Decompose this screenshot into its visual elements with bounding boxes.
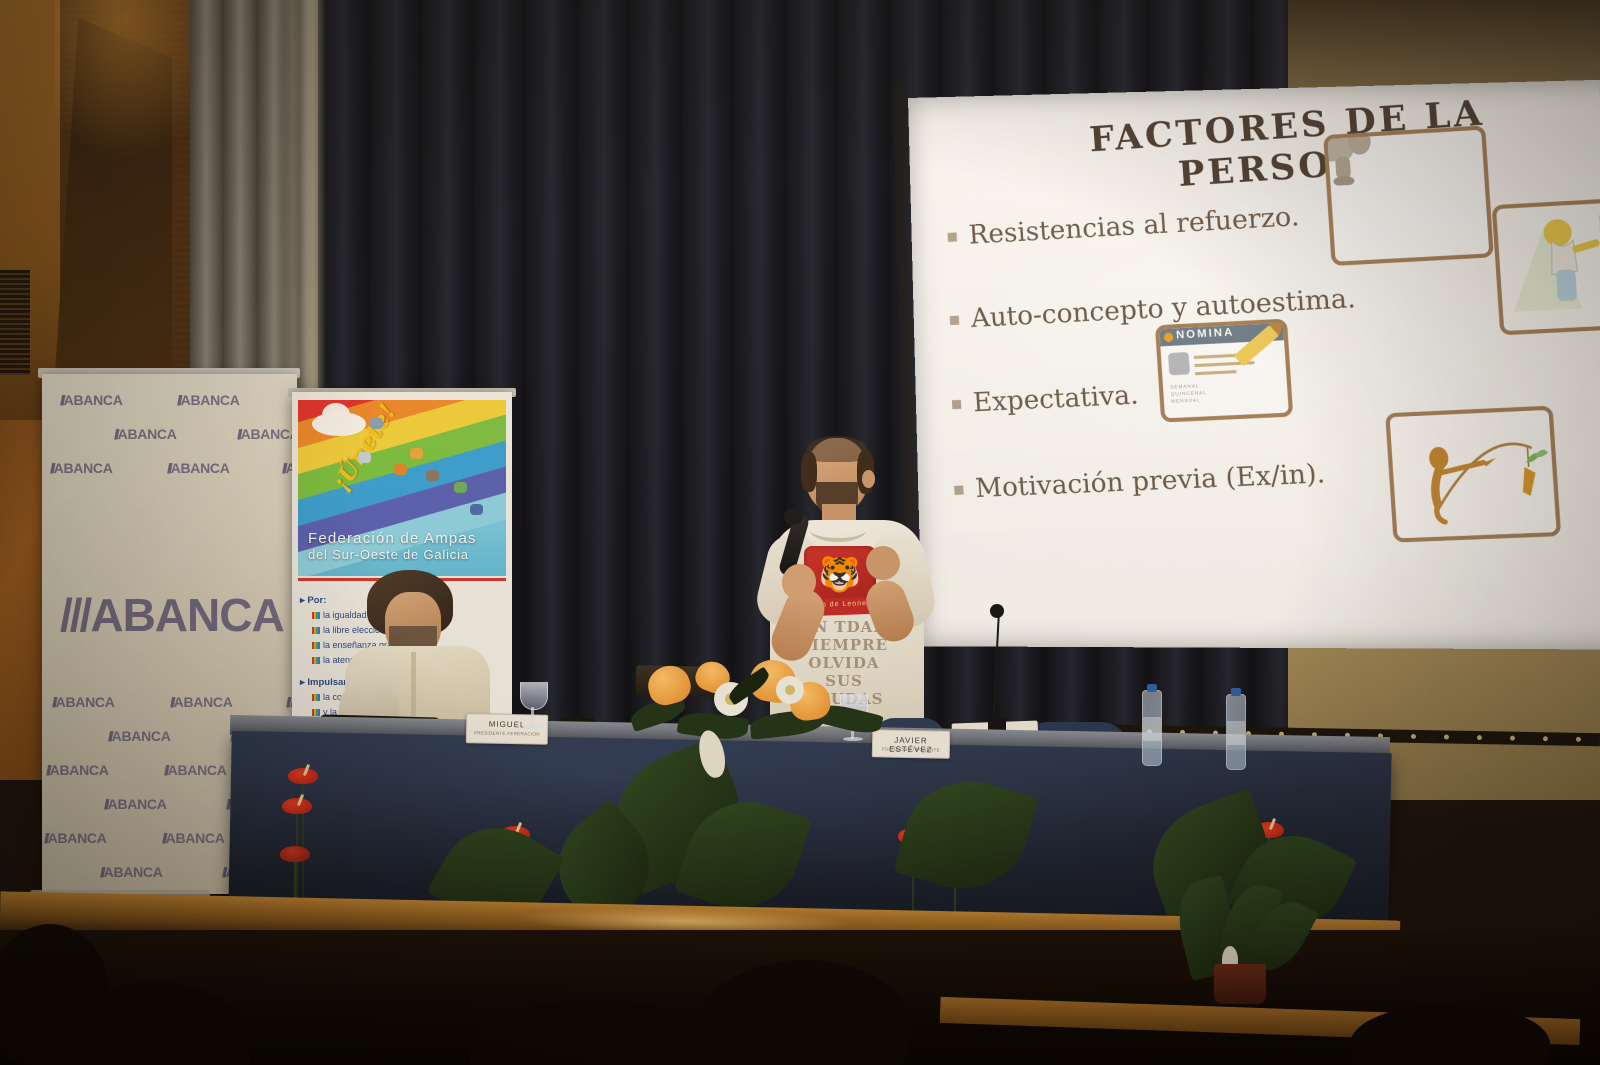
carrot-on-stick-image — [1385, 406, 1561, 543]
abanca-tile-label: ///ABANCA — [114, 426, 177, 442]
presenter-ear — [862, 470, 875, 488]
critter-icon — [394, 464, 407, 475]
abanca-tile-label: ///ABANCA — [108, 728, 171, 744]
child-drawing-image — [1492, 197, 1600, 335]
photo-canvas: UNFC FACTORES DE LA PERSONA Resistencias… — [0, 0, 1600, 1065]
flag-icon — [312, 694, 320, 701]
rail-bolt — [1411, 734, 1416, 739]
federacion-title: Federación de Ampas del Sur-Oeste de Gal… — [308, 530, 498, 562]
abanca-tile-label: ///ABANCA — [237, 426, 297, 442]
abanca-tile-label: ///ABANCA — [177, 392, 240, 408]
abanca-logo: ///ABANCA — [60, 588, 284, 642]
rock-golem-icon — [1323, 125, 1381, 189]
carrot-on-stick-icon — [1390, 410, 1557, 538]
payslip-image: NOMINA SEMANALQUINCENALMENSUAL — [1155, 319, 1293, 423]
payslip-period-lines: SEMANALQUINCENALMENSUAL — [1170, 382, 1208, 405]
flag-icon — [312, 612, 320, 619]
abanca-tile-label: ///ABANCA — [167, 460, 230, 476]
abanca-tile-label: ///ABANCA — [52, 694, 115, 710]
critter-icon — [454, 482, 467, 493]
presenter-hair-left — [801, 452, 817, 492]
flag-icon — [312, 642, 320, 649]
daisy-flower — [776, 676, 804, 704]
potted-peace-lily — [1160, 880, 1330, 1010]
abanca-tile-label: ///ABANCA — [100, 864, 163, 880]
abanca-tile-label: ///ABANCA — [46, 762, 109, 778]
water-bottle — [1226, 694, 1246, 770]
flag-icon — [312, 657, 320, 664]
critter-icon — [370, 418, 383, 429]
payslip-avatar-icon — [1168, 352, 1190, 375]
payslip-title: NOMINA — [1176, 326, 1235, 341]
abanca-tile-label: ///ABANCA — [50, 460, 113, 476]
presenter-collar — [810, 518, 866, 542]
rail-bolt — [1510, 736, 1515, 741]
lion-icon: 🐯 — [819, 558, 861, 592]
rail-bolt — [1477, 735, 1482, 740]
rail-bolt — [1576, 737, 1581, 742]
flag-icon — [312, 627, 320, 634]
wall-vent-grille — [0, 270, 30, 375]
rail-bolt — [1543, 736, 1548, 741]
flower-arrangement — [630, 660, 890, 750]
abanca-tile-label: ///ABANCA — [60, 392, 123, 408]
bullet-marker-icon — [952, 399, 962, 408]
rainbow-artwork: ¡Únete! Federación de Ampas del Sur-Oest… — [298, 400, 506, 576]
critter-icon — [426, 470, 439, 481]
bullet-marker-icon — [954, 485, 964, 494]
rock-monster-image — [1323, 125, 1494, 266]
rail-bolt — [1444, 734, 1449, 739]
abanca-tile-label: ///ABANCA — [164, 762, 227, 778]
flag-icon — [312, 709, 320, 716]
nameplate-miguel: MIGUEL PRESIDENTE FEDERACIÓN — [466, 713, 549, 745]
microphone-head-icon — [784, 508, 803, 525]
abanca-tile-label: ///ABANCA — [104, 796, 167, 812]
flower-pot — [1214, 964, 1266, 1004]
child-painting-icon — [1496, 201, 1600, 331]
critter-icon — [358, 452, 371, 463]
bullet-marker-icon — [947, 232, 957, 242]
critter-icon — [410, 448, 423, 459]
payslip-dot-icon — [1164, 333, 1174, 343]
seated-panelist — [345, 570, 490, 735]
bullet-marker-icon — [950, 315, 960, 324]
nameplate-subtitle: PRESIDENTE FEDERACIÓN — [467, 730, 547, 737]
abanca-tile-label: ///ABANCA — [162, 830, 225, 846]
lily-flower — [644, 661, 695, 709]
abanca-tile-label: ///ABANCA — [170, 694, 233, 710]
payslip-line — [1195, 370, 1236, 375]
abanca-tile-label: ///ABANCA — [44, 830, 107, 846]
water-bottle — [1142, 690, 1162, 766]
presenter-hand-right — [866, 546, 900, 580]
critter-icon — [470, 504, 483, 515]
projection-slide: UNFC FACTORES DE LA PERSONA Resistencias… — [908, 79, 1600, 650]
